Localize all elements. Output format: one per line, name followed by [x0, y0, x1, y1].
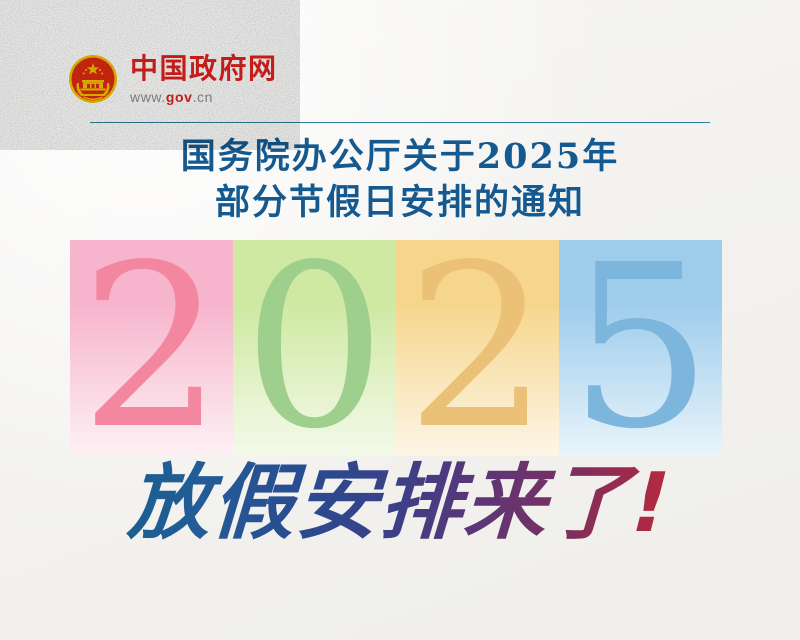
site-masthead[interactable]: 中国政府网 www.gov.cn [68, 48, 408, 110]
site-url: www.gov.cn [130, 90, 278, 104]
year-digit-4: 5 [559, 240, 722, 456]
year-panel-2: 0 [233, 240, 396, 456]
year-digit-1: 2 [70, 240, 233, 456]
title-line-2: 部分节假日安排的通知 [0, 180, 800, 226]
header-divider [90, 122, 710, 123]
masthead-text-group: 中国政府网 www.gov.cn [130, 55, 278, 104]
page-title: 国务院办公厅关于2025年 部分节假日安排的通知 [0, 134, 800, 226]
site-name: 中国政府网 [130, 55, 278, 83]
year-panel-4: 5 [559, 240, 722, 456]
url-suffix: .cn [193, 89, 213, 105]
year-digit-3: 2 [396, 240, 559, 456]
headline-banner: 放假安排来了! [0, 452, 800, 556]
poster-root: 中国政府网 www.gov.cn 国务院办公厅关于2025年 部分节假日安排的通… [0, 0, 800, 640]
year-panel-band: 2 0 2 5 [70, 240, 722, 456]
year-panel-3: 2 [396, 240, 559, 456]
year-panel-1: 2 [70, 240, 233, 456]
year-digit-2: 0 [233, 240, 396, 456]
url-prefix: www. [130, 89, 166, 105]
url-brand: gov [166, 89, 193, 105]
headline-text: 放假安排来了! [126, 452, 675, 556]
china-national-emblem-icon [68, 54, 118, 104]
title-line-1: 国务院办公厅关于2025年 [0, 134, 800, 180]
